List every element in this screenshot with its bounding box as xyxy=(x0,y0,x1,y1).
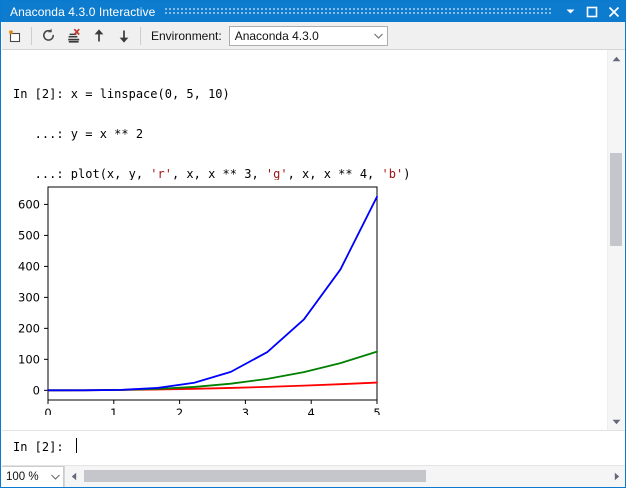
y-tick-label: 600 xyxy=(18,197,40,211)
chevron-down-icon xyxy=(48,474,63,480)
horizontal-scrollbar-thumb[interactable] xyxy=(84,470,426,482)
y-tick-label: 400 xyxy=(18,259,40,273)
console-output-area[interactable]: In [2]: x = linspace(0, 5, 10) ...: y = … xyxy=(2,50,625,430)
scroll-up-icon[interactable] xyxy=(87,24,111,48)
y-tick-label: 300 xyxy=(18,290,40,304)
title-bar-grip xyxy=(165,7,551,16)
code-line: ...: y = x ** 2 xyxy=(13,128,410,141)
y-tick-label: 0 xyxy=(33,383,40,397)
maximize-icon[interactable] xyxy=(581,1,603,22)
x-tick-label: 3 xyxy=(242,406,249,415)
window-title: Anaconda 4.3.0 Interactive xyxy=(1,5,155,19)
x-tick-label: 1 xyxy=(110,406,117,415)
text-caret xyxy=(76,438,77,453)
scroll-down-arrow-icon[interactable] xyxy=(608,413,624,430)
environment-select-value: Anaconda 4.3.0 xyxy=(230,29,370,43)
status-bar: 100 % xyxy=(2,465,625,486)
scroll-left-arrow-icon[interactable] xyxy=(65,466,82,486)
code-text: ) xyxy=(403,167,410,181)
x-tick-label: 5 xyxy=(373,406,380,415)
toolbar: Environment: Anaconda 4.3.0 xyxy=(2,22,625,50)
horizontal-scrollbar[interactable] xyxy=(64,466,625,487)
matplotlib-figure: 0123450100200300400500600 xyxy=(13,180,388,415)
y-tick-label: 500 xyxy=(18,228,40,242)
environment-select[interactable]: Anaconda 4.3.0 xyxy=(229,26,388,46)
scroll-right-arrow-icon[interactable] xyxy=(608,466,625,486)
x-tick-label: 2 xyxy=(176,406,183,415)
toolbar-separator xyxy=(31,27,32,45)
clear-icon[interactable] xyxy=(62,24,86,48)
interactive-window: Anaconda 4.3.0 Interactive xyxy=(0,0,626,488)
input-prompt-row[interactable]: In [2]: xyxy=(2,430,625,466)
chevron-down-icon xyxy=(370,33,387,39)
zoom-level-value: 100 % xyxy=(2,471,48,483)
title-bar: Anaconda 4.3.0 Interactive xyxy=(1,1,625,22)
input-prompt-label: In [2]: xyxy=(13,440,71,454)
zoom-level-select[interactable]: 100 % xyxy=(2,466,64,487)
vertical-scrollbar[interactable] xyxy=(607,50,624,430)
environment-label: Environment: xyxy=(151,29,222,43)
plot-canvas: 0123450100200300400500600 xyxy=(13,180,388,415)
y-tick-label: 200 xyxy=(18,321,40,335)
scroll-down-icon[interactable] xyxy=(112,24,136,48)
vertical-scrollbar-thumb[interactable] xyxy=(610,153,622,246)
code-text: ...: y = x ** 2 xyxy=(13,127,143,141)
close-icon[interactable] xyxy=(603,1,625,22)
y-tick-label: 100 xyxy=(18,352,40,366)
code-line: In [2]: x = linspace(0, 5, 10) xyxy=(13,88,410,101)
x-tick-label: 0 xyxy=(44,406,51,415)
chevron-down-icon[interactable] xyxy=(559,1,581,22)
scroll-up-arrow-icon[interactable] xyxy=(608,50,624,67)
x-tick-label: 4 xyxy=(308,406,315,415)
new-interactive-window-icon[interactable] xyxy=(3,24,27,48)
toolbar-separator-2 xyxy=(140,27,141,45)
code-text: In [2]: x = linspace(0, 5, 10) xyxy=(13,87,230,101)
reset-icon[interactable] xyxy=(37,24,61,48)
